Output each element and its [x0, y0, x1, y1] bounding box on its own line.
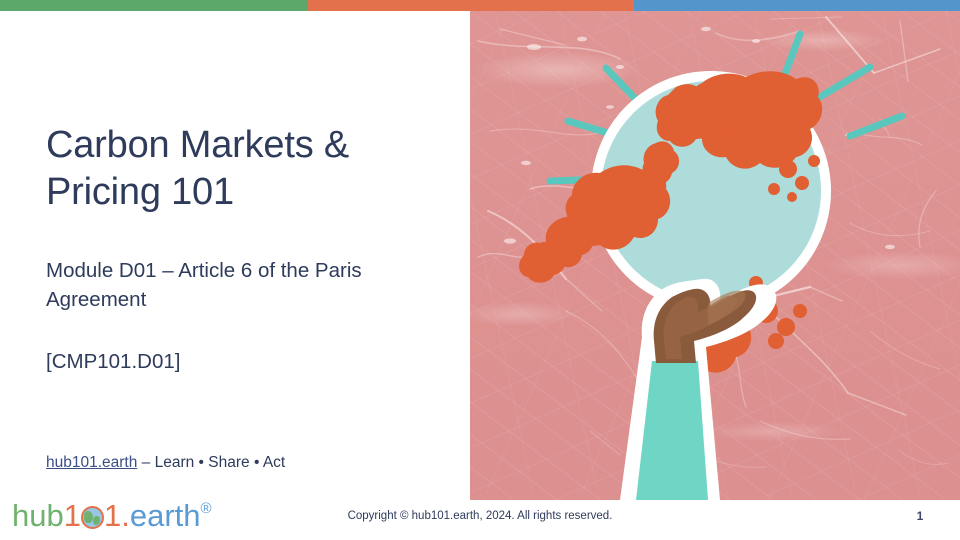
accent-segment-blue: [634, 0, 960, 11]
page-title: Carbon Markets & Pricing 101: [46, 122, 446, 216]
top-accent-bar: [0, 0, 960, 11]
page-number: 1: [900, 509, 940, 523]
globe-and-hand-illustration: [470, 11, 960, 500]
hub101-link[interactable]: hub101.earth: [46, 454, 137, 471]
slide-root: Carbon Markets & Pricing 101 Module D01 …: [0, 0, 960, 540]
accent-segment-orange: [308, 0, 634, 11]
tagline: hub101.earth – Learn • Share • Act: [46, 452, 466, 474]
page-subtitle: Module D01 – Article 6 of the Paris Agre…: [46, 256, 456, 314]
accent-segment-green: [0, 0, 308, 11]
hero-image: [470, 11, 960, 500]
module-code: [CMP101.D01]: [46, 348, 446, 377]
copyright-notice: Copyright © hub101.earth, 2024. All righ…: [0, 510, 960, 522]
tagline-rest: – Learn • Share • Act: [137, 454, 285, 471]
